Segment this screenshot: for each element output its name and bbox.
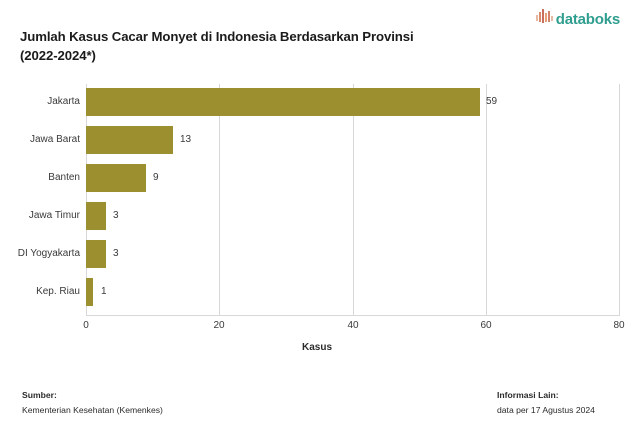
bar-jakarta[interactable] — [86, 88, 480, 116]
x-tick-0: 0 — [83, 320, 89, 331]
bar-row-kep-riau[interactable]: Kep. Riau 1 — [0, 278, 634, 306]
footer-source-heading: Sumber: — [22, 388, 163, 403]
category-label-banten: Banten — [0, 164, 80, 192]
page-title-line-2: (2022-2024*) — [20, 46, 490, 65]
bar-row-di-yogyakarta[interactable]: DI Yogyakarta 3 — [0, 240, 634, 268]
category-label-jakarta: Jakarta — [0, 88, 80, 116]
bar-value-di-yogyakarta: 3 — [113, 240, 119, 268]
category-label-jawa-barat: Jawa Barat — [0, 126, 80, 154]
x-tick-80: 80 — [613, 320, 624, 331]
bar-row-jakarta[interactable]: Jakarta 59 — [0, 88, 634, 116]
bar-kep-riau[interactable] — [86, 278, 93, 306]
x-axis-line — [86, 315, 620, 316]
bar-chart: Jakarta 59 Jawa Barat 13 Banten 9 Jawa T… — [0, 80, 634, 365]
bar-rows: Jakarta 59 Jawa Barat 13 Banten 9 Jawa T… — [0, 84, 634, 315]
bar-value-jawa-timur: 3 — [113, 202, 119, 230]
footer-info-heading: Informasi Lain: — [497, 388, 595, 403]
bar-value-jawa-barat: 13 — [180, 126, 191, 154]
bar-jawa-timur[interactable] — [86, 202, 106, 230]
footer-info: Informasi Lain: data per 17 Agustus 2024 — [497, 388, 595, 417]
page-title-line-1: Jumlah Kasus Cacar Monyet di Indonesia B… — [20, 27, 490, 46]
x-axis-label: Kasus — [0, 342, 634, 353]
bar-row-banten[interactable]: Banten 9 — [0, 164, 634, 192]
x-tick-20: 20 — [213, 320, 224, 331]
chart-page: databoks Jumlah Kasus Cacar Monyet di In… — [0, 0, 634, 444]
category-label-jawa-timur: Jawa Timur — [0, 202, 80, 230]
bar-value-jakarta: 59 — [486, 88, 497, 116]
bar-di-yogyakarta[interactable] — [86, 240, 106, 268]
footer-source-value: Kementerian Kesehatan (Kemenkes) — [22, 403, 163, 418]
databoks-logo: databoks — [536, 9, 620, 30]
x-tick-40: 40 — [347, 320, 358, 331]
bar-row-jawa-barat[interactable]: Jawa Barat 13 — [0, 126, 634, 154]
bar-banten[interactable] — [86, 164, 146, 192]
bar-row-jawa-timur[interactable]: Jawa Timur 3 — [0, 202, 634, 230]
footer-source: Sumber: Kementerian Kesehatan (Kemenkes) — [22, 388, 163, 417]
bar-value-kep-riau: 1 — [101, 278, 107, 306]
category-label-kep-riau: Kep. Riau — [0, 278, 80, 306]
bar-chart-logo-icon — [536, 9, 553, 30]
brand-name: databoks — [556, 12, 620, 27]
x-tick-60: 60 — [480, 320, 491, 331]
category-label-di-yogyakarta: DI Yogyakarta — [0, 240, 80, 268]
page-title: Jumlah Kasus Cacar Monyet di Indonesia B… — [20, 27, 490, 65]
bar-jawa-barat[interactable] — [86, 126, 173, 154]
footer-info-value: data per 17 Agustus 2024 — [497, 403, 595, 418]
bar-value-banten: 9 — [153, 164, 159, 192]
